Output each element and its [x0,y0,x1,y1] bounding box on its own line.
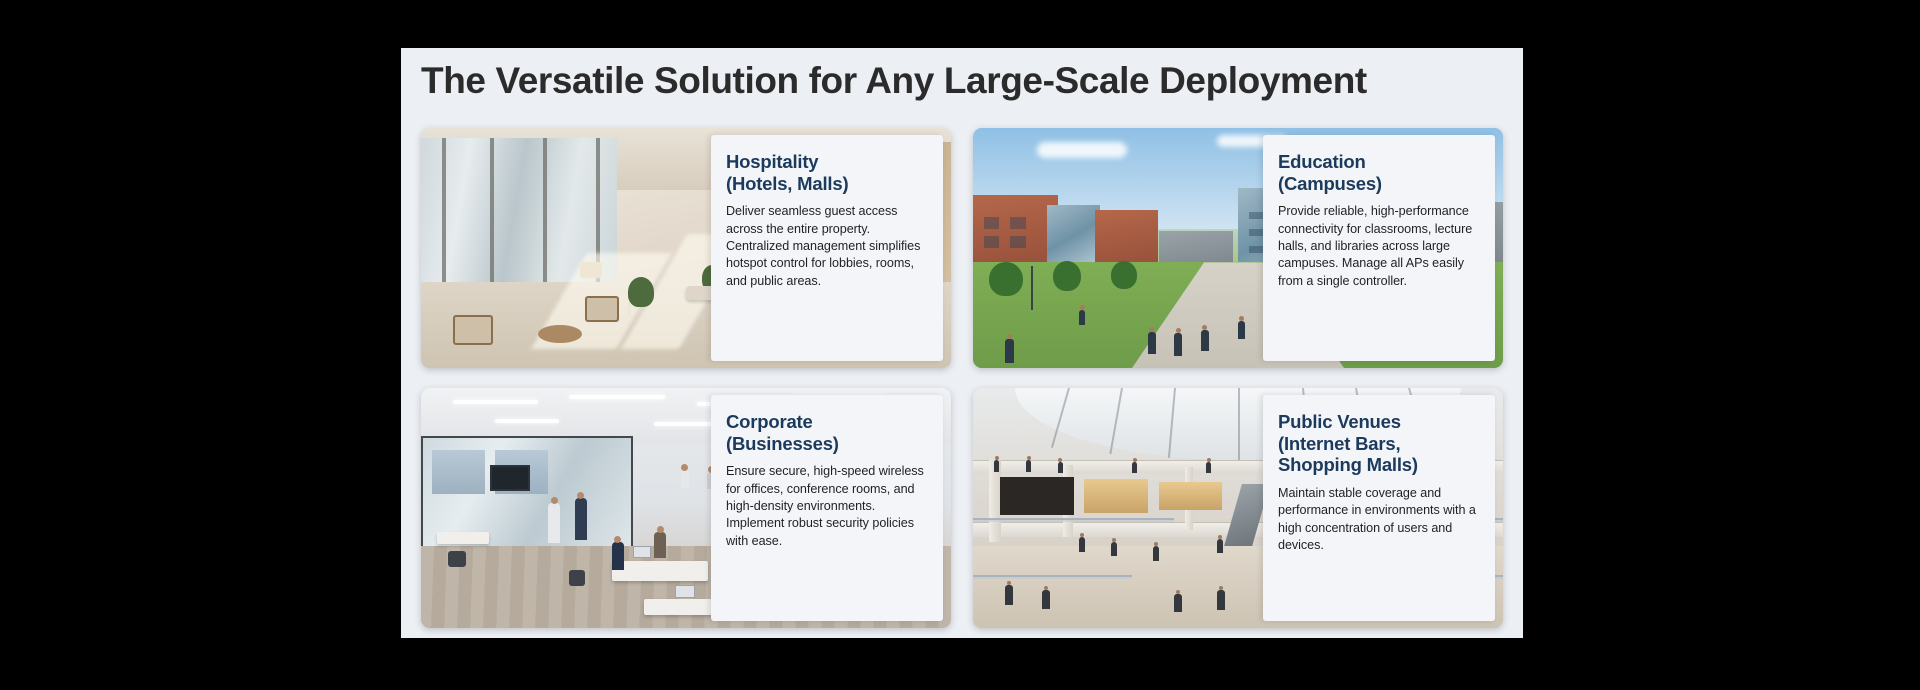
use-case-card-hospitality[interactable]: Hospitality (Hotels, Malls) Deliver seam… [421,128,951,368]
card-text-panel: Corporate (Businesses) Ensure secure, hi… [711,395,943,621]
card-heading: Corporate (Businesses) [726,411,928,454]
card-heading-line-2: (Campuses) [1278,173,1480,195]
use-case-card-corporate[interactable]: Corporate (Businesses) Ensure secure, hi… [421,388,951,628]
card-heading-line-3: Shopping Malls) [1278,454,1480,476]
card-heading-line-1: Public Venues [1278,411,1480,433]
card-body-text: Ensure secure, high-speed wireless for o… [726,463,928,550]
card-heading: Public Venues (Internet Bars, Shopping M… [1278,411,1480,476]
card-body-text: Provide reliable, high-performance conne… [1278,203,1480,290]
card-heading-line-2: (Hotels, Malls) [726,173,928,195]
card-heading: Hospitality (Hotels, Malls) [726,151,928,194]
card-body-text: Maintain stable coverage and performance… [1278,485,1480,555]
use-case-card-grid: Hospitality (Hotels, Malls) Deliver seam… [421,128,1503,628]
card-heading-line-1: Corporate [726,411,928,433]
card-heading: Education (Campuses) [1278,151,1480,194]
card-heading-line-2: (Businesses) [726,433,928,455]
presentation-slide: The Versatile Solution for Any Large-Sca… [401,48,1523,638]
card-heading-line-2: (Internet Bars, [1278,433,1480,455]
use-case-card-public-venues[interactable]: Public Venues (Internet Bars, Shopping M… [973,388,1503,628]
card-body-text: Deliver seamless guest access across the… [726,203,928,290]
page-title: The Versatile Solution for Any Large-Sca… [421,60,1501,103]
screenshot-canvas: The Versatile Solution for Any Large-Sca… [0,0,1920,690]
card-heading-line-1: Hospitality [726,151,928,173]
use-case-card-education[interactable]: Education (Campuses) Provide reliable, h… [973,128,1503,368]
card-text-panel: Public Venues (Internet Bars, Shopping M… [1263,395,1495,621]
card-text-panel: Education (Campuses) Provide reliable, h… [1263,135,1495,361]
card-text-panel: Hospitality (Hotels, Malls) Deliver seam… [711,135,943,361]
card-heading-line-1: Education [1278,151,1480,173]
